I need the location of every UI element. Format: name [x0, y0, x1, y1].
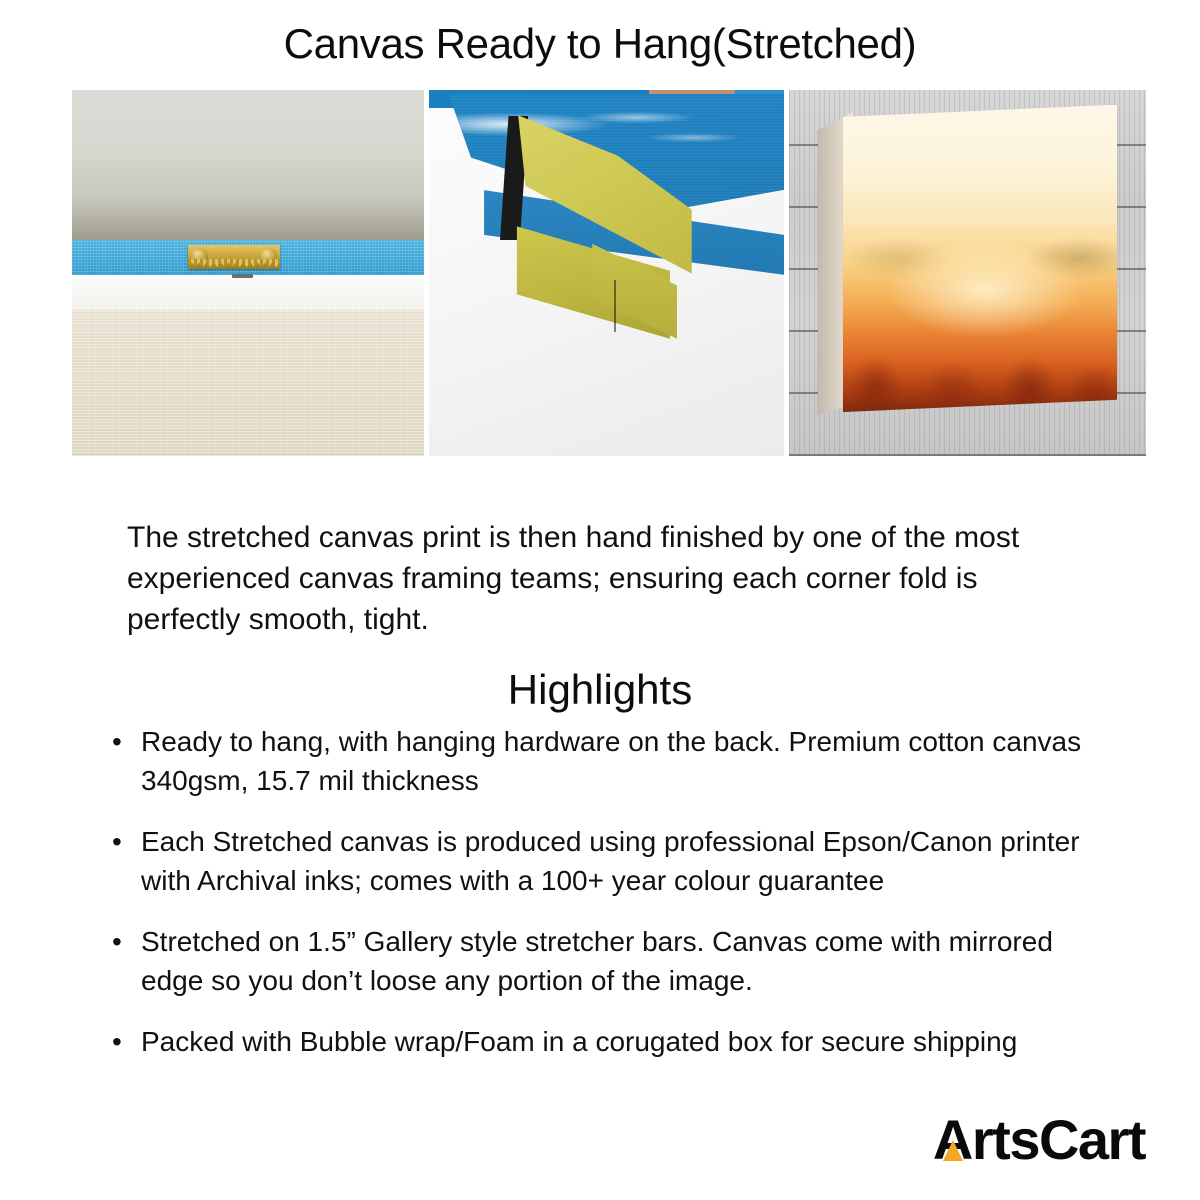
gallery-image-canvas-back-hanger[interactable] [72, 90, 424, 456]
logo-text-cart: Cart [1039, 1110, 1145, 1170]
list-item-text: Stretched on 1.5” Gallery style stretche… [141, 926, 1053, 996]
raw-cotton-canvas-surface [72, 306, 424, 456]
logo-letter-a: A [933, 1110, 972, 1170]
triangle-icon [943, 1140, 963, 1161]
highlights-heading: Highlights [0, 665, 1200, 715]
product-image-gallery [72, 90, 1146, 456]
logo-text-rts: rts [972, 1110, 1039, 1170]
list-item: • Ready to hang, with hanging hardware o… [108, 722, 1108, 800]
bullet-dot-icon: • [112, 822, 122, 861]
bullet-dot-icon: • [112, 1022, 122, 1061]
list-item-text: Each Stretched canvas is produced using … [141, 826, 1080, 896]
canvas-back-surface [72, 90, 424, 240]
gallery-image-canvas-hung-on-wall[interactable] [789, 90, 1146, 456]
hanger-nail-icon [232, 274, 253, 278]
intro-paragraph: The stretched canvas print is then hand … [127, 517, 1062, 640]
bullet-dot-icon: • [112, 922, 122, 961]
list-item-text: Ready to hang, with hanging hardware on … [141, 726, 1081, 796]
list-item: • Each Stretched canvas is produced usin… [108, 822, 1108, 900]
corner-fold-crease-line [614, 280, 616, 331]
canvas-sunset-landscape-print [843, 105, 1118, 412]
bullet-dot-icon: • [112, 722, 122, 761]
highlights-list: • Ready to hang, with hanging hardware o… [108, 722, 1108, 1083]
artscart-logo[interactable]: A rts Cart [933, 1110, 1145, 1170]
list-item: • Packed with Bubble wrap/Foam in a coru… [108, 1022, 1108, 1061]
list-item: • Stretched on 1.5” Gallery style stretc… [108, 922, 1108, 1000]
gallery-image-canvas-corner-fold[interactable] [429, 90, 784, 456]
list-item-text: Packed with Bubble wrap/Foam in a coruga… [141, 1026, 1017, 1057]
page-title: Canvas Ready to Hang(Stretched) [0, 0, 1200, 78]
